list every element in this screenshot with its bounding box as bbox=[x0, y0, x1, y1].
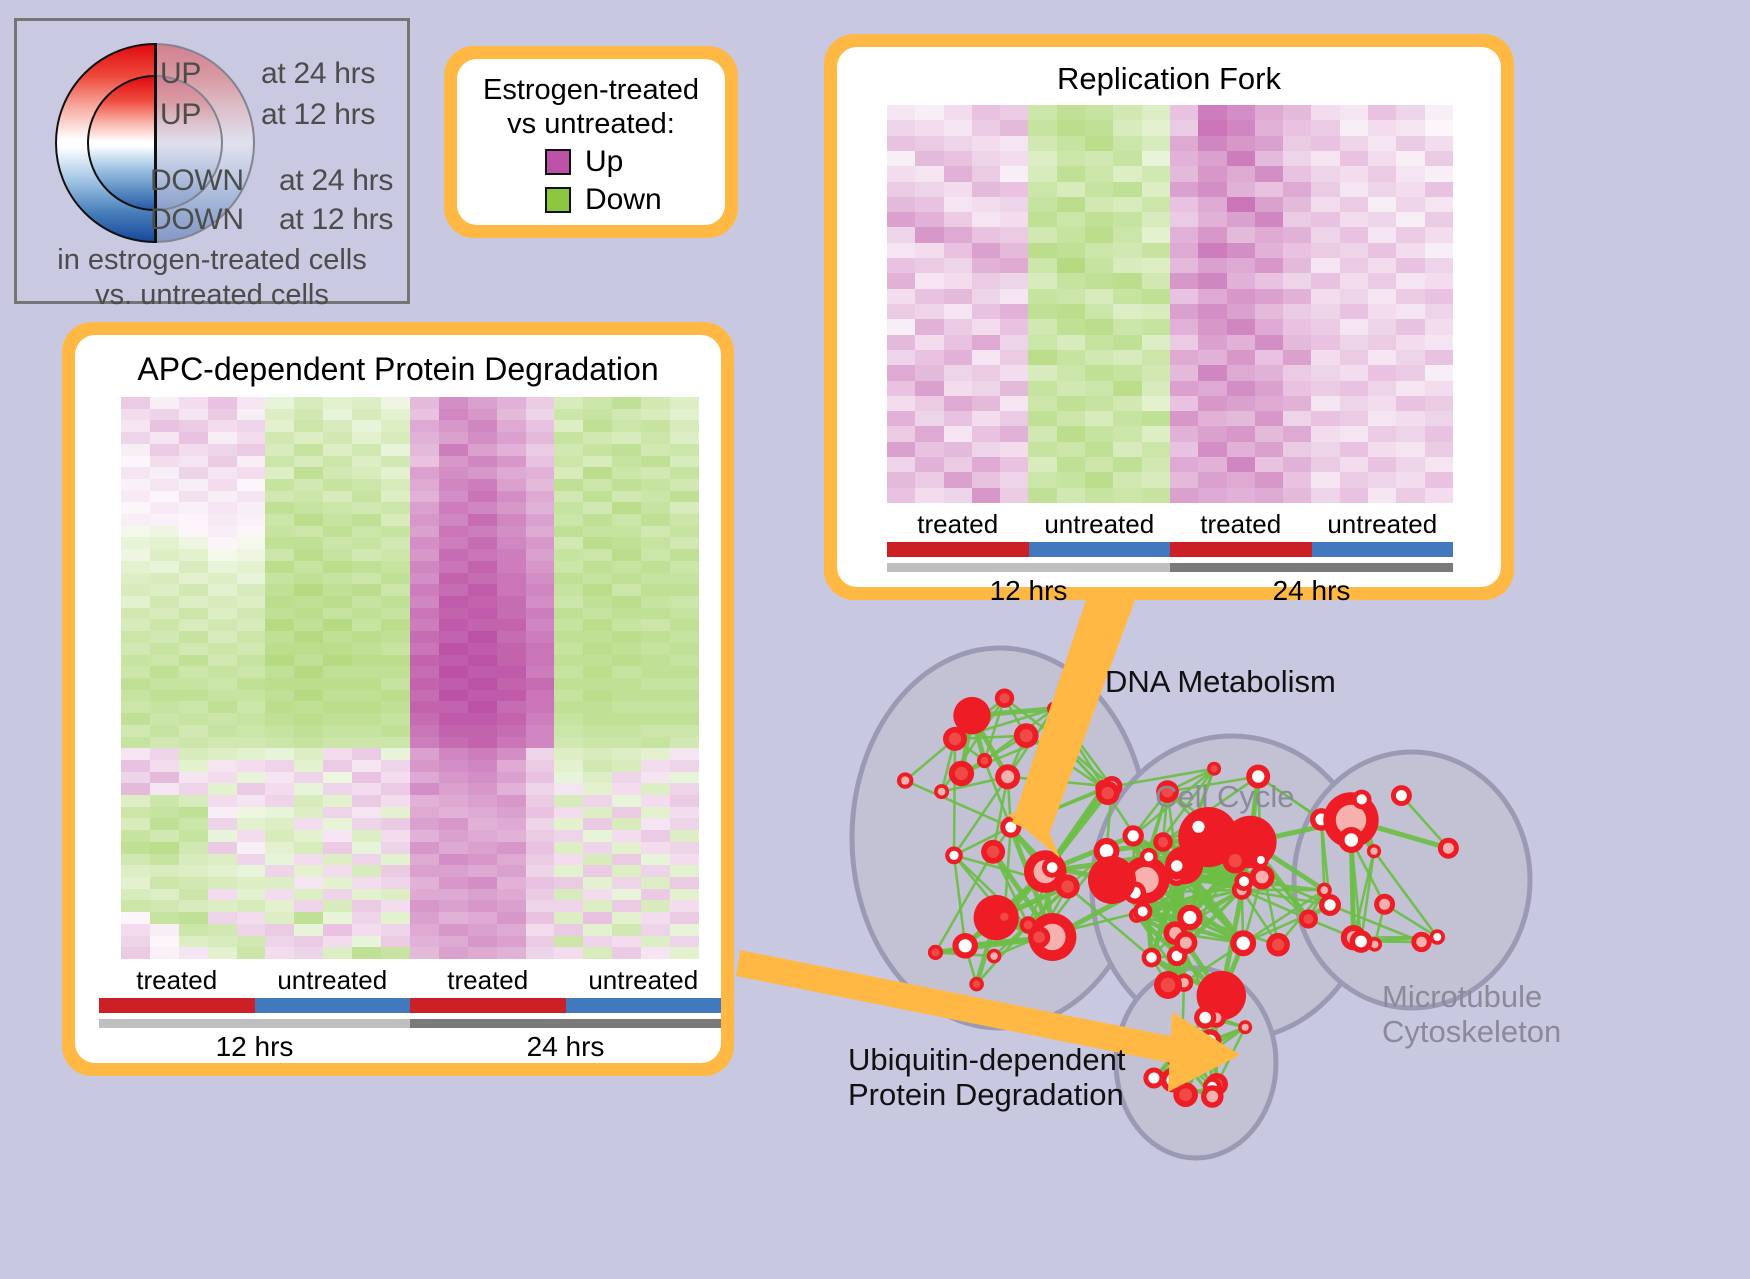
apc-degradation-heatmap bbox=[121, 397, 699, 959]
estrogen-legend-title: Estrogen-treated vs untreated: bbox=[467, 73, 715, 141]
estrogen-legend-panel: Estrogen-treated vs untreated: Up Down bbox=[444, 46, 738, 238]
up-swatch-icon bbox=[545, 149, 571, 175]
legend-item-up-label: Up bbox=[585, 145, 623, 179]
apc-sample-label-untreated-12: untreated bbox=[255, 965, 411, 996]
estrogen-legend-title-line1: Estrogen-treated bbox=[467, 73, 715, 107]
apc-sample-label-treated-12: treated bbox=[99, 965, 255, 996]
legend-label-down-12: DOWN bbox=[150, 164, 244, 198]
cluster-label-ubiquitin-line2: Protein Degradation bbox=[848, 1078, 1126, 1113]
time-bar-24hrs bbox=[1170, 563, 1453, 572]
apc-time-label-24hrs: 24 hrs bbox=[410, 1031, 721, 1063]
bar-treated-24 bbox=[1170, 542, 1312, 557]
legend-item-up: Up bbox=[545, 145, 715, 179]
time-label-12hrs: 12 hrs bbox=[887, 575, 1170, 607]
legend-label-up-24: UP bbox=[160, 57, 201, 91]
cluster-label-dna-metabolism: DNA Metabolism bbox=[1105, 665, 1336, 700]
cluster-microtubule bbox=[1294, 752, 1530, 1008]
arrow-apc-head bbox=[1168, 1012, 1240, 1092]
cluster-label-cell-cycle: Cell Cycle bbox=[1155, 780, 1295, 815]
legend-footer-line1: in estrogen-treated cells bbox=[17, 243, 407, 278]
arrow-replication-to-dna bbox=[1012, 600, 1135, 837]
bar-untreated-24 bbox=[1312, 542, 1454, 557]
replication-fork-annotations: treated untreated treated untreated 12 h bbox=[887, 509, 1453, 607]
replication-sample-bar bbox=[887, 542, 1453, 557]
apc-time-bar-24hrs bbox=[410, 1019, 721, 1028]
down-swatch-icon bbox=[545, 187, 571, 213]
apc-degradation-inner: APC-dependent Protein Degradation treate… bbox=[75, 335, 721, 1063]
apc-bar-untreated-24 bbox=[566, 998, 722, 1013]
apc-degradation-panel: APC-dependent Protein Degradation treate… bbox=[62, 322, 734, 1076]
estrogen-legend-inner: Estrogen-treated vs untreated: Up Down bbox=[457, 59, 725, 225]
replication-fork-panel: Replication Fork treated untreated treat… bbox=[824, 34, 1514, 600]
apc-time-label-12hrs: 12 hrs bbox=[99, 1031, 410, 1063]
cluster-label-microtubule-line1: Microtubule bbox=[1382, 980, 1561, 1015]
apc-degradation-title: APC-dependent Protein Degradation bbox=[75, 335, 721, 388]
apc-time-bar-12hrs bbox=[99, 1019, 410, 1028]
apc-bar-treated-24 bbox=[410, 998, 566, 1013]
sample-label-untreated-24: untreated bbox=[1312, 509, 1454, 540]
replication-sample-labels: treated untreated treated untreated bbox=[887, 509, 1453, 540]
apc-sample-labels: treated untreated treated untreated bbox=[99, 965, 721, 996]
sample-label-treated-24: treated bbox=[1170, 509, 1312, 540]
arrow-replication-head bbox=[1008, 806, 1060, 858]
legend-item-down-label: Down bbox=[585, 183, 662, 217]
apc-sample-bar bbox=[99, 998, 721, 1013]
estrogen-legend-title-line2: vs untreated: bbox=[467, 107, 715, 141]
legend-footer-line2: vs. untreated cells bbox=[17, 278, 407, 313]
apc-bar-untreated-12 bbox=[255, 998, 411, 1013]
network-edges bbox=[905, 698, 1448, 1096]
bar-treated-12 bbox=[887, 542, 1029, 557]
cluster-ubiquitin bbox=[1116, 968, 1276, 1158]
legend-time-up-24: at 24 hrs bbox=[261, 57, 375, 91]
time-bar-12hrs bbox=[887, 563, 1170, 572]
legend-item-down: Down bbox=[545, 183, 715, 217]
figure-root: UP at 24 hrs UP at 12 hrs DOWN at 24 hrs… bbox=[0, 0, 1750, 1279]
legend-label-down-24: DOWN bbox=[150, 203, 244, 237]
apc-annotations: treated untreated treated untreated 12 h bbox=[99, 965, 721, 1063]
circle-color-legend: UP at 24 hrs UP at 12 hrs DOWN at 24 hrs… bbox=[14, 18, 410, 304]
legend-footer: in estrogen-treated cells vs. untreated … bbox=[17, 243, 407, 314]
apc-sample-label-treated-24: treated bbox=[410, 965, 566, 996]
legend-time-down-24: at 12 hrs bbox=[279, 203, 393, 237]
cluster-label-ubiquitin: Ubiquitin-dependent Protein Degradation bbox=[848, 1043, 1126, 1112]
legend-time-up-12: at 12 hrs bbox=[261, 98, 375, 132]
cluster-dna-metabolism bbox=[852, 648, 1148, 1028]
sample-label-untreated-12: untreated bbox=[1029, 509, 1171, 540]
apc-time-bar bbox=[99, 1019, 721, 1028]
replication-fork-inner: Replication Fork treated untreated treat… bbox=[837, 47, 1501, 587]
apc-bar-treated-12 bbox=[99, 998, 255, 1013]
cluster-label-microtubule: Microtubule Cytoskeleton bbox=[1382, 980, 1561, 1049]
cluster-label-microtubule-line2: Cytoskeleton bbox=[1382, 1015, 1561, 1050]
replication-fork-title: Replication Fork bbox=[837, 47, 1501, 97]
apc-sample-label-untreated-24: untreated bbox=[566, 965, 722, 996]
replication-time-labels: 12 hrs 24 hrs bbox=[887, 575, 1453, 607]
time-label-24hrs: 24 hrs bbox=[1170, 575, 1453, 607]
replication-time-bar bbox=[887, 563, 1453, 572]
apc-time-labels: 12 hrs 24 hrs bbox=[99, 1031, 721, 1063]
legend-label-up-12: UP bbox=[160, 98, 201, 132]
bar-untreated-12 bbox=[1029, 542, 1171, 557]
replication-fork-heatmap bbox=[887, 105, 1453, 503]
cluster-label-ubiquitin-line1: Ubiquitin-dependent bbox=[848, 1043, 1126, 1078]
legend-time-down-12: at 24 hrs bbox=[279, 164, 393, 198]
sample-label-treated-12: treated bbox=[887, 509, 1029, 540]
